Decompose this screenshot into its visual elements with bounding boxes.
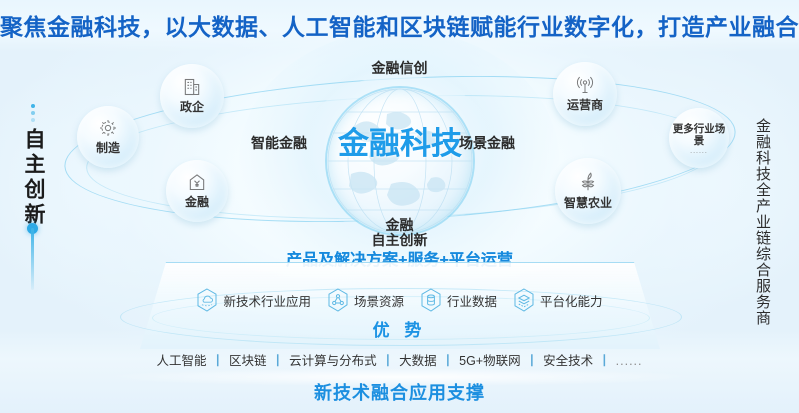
technology-item: 5G+物联网 (459, 354, 520, 368)
database-hex-icon (420, 288, 442, 312)
capability-label: 场景资源 (354, 291, 404, 310)
left-vertical-caption: 自主创新 (18, 128, 48, 228)
industry-bubble-label: 制造 (96, 139, 120, 156)
industry-bubble-label: 运营商 (567, 96, 603, 113)
building-icon (182, 77, 202, 97)
technology-ellipsis: ...... (616, 354, 643, 368)
technology-separator: 丨 (526, 354, 539, 368)
gear-icon (98, 118, 118, 138)
industry-bubble-telecom-operator[interactable]: 运营商 (553, 62, 617, 126)
layers-hex-icon (513, 288, 535, 312)
wheat-icon (577, 171, 599, 193)
technology-separator: 丨 (272, 354, 285, 368)
label-scenario-finance: 场景金融 (459, 133, 515, 153)
technology-support-title: 新技术融合应用支撑 (0, 379, 799, 405)
industry-bubble-more-scenarios[interactable]: 更多行业场景 ...... (669, 108, 729, 168)
bank-currency-icon (187, 172, 207, 192)
capability-item-scenario-resources[interactable]: 场景资源 (327, 288, 404, 312)
capability-item-platform-capability[interactable]: 平台化能力 (513, 288, 603, 312)
industry-bubble-ellipsis: ...... (690, 148, 708, 155)
technology-item: 云计算与分布式 (289, 354, 377, 368)
industry-bubble-label: 智慧农业 (564, 194, 612, 211)
industry-bubble-manufacturing[interactable]: 制造 (77, 106, 139, 168)
label-finance-line1: 金融 (386, 217, 414, 233)
technology-separator: 丨 (212, 354, 225, 368)
cloud-hex-icon (196, 288, 218, 312)
page-title: 聚焦金融科技，以大数据、人工智能和区块链赋能行业数字化，打造产业融合新生态 (0, 8, 799, 42)
globe-center-label: 金融科技 (327, 118, 473, 163)
technology-item: 大数据 (399, 354, 437, 368)
capability-label: 新技术行业应用 (223, 291, 311, 310)
label-finance-self-innovation: 金融 自主创新 (0, 218, 799, 248)
label-smart-finance: 智能金融 (251, 133, 307, 153)
capability-item-new-tech-application[interactable]: 新技术行业应用 (196, 288, 311, 312)
industry-bubble-government-enterprise[interactable]: 政企 (160, 64, 224, 128)
capability-row: 新技术行业应用 场景资源 行业数据 (0, 288, 799, 312)
industry-bubble-smart-agriculture[interactable]: 智慧农业 (555, 158, 621, 224)
capability-item-industry-data[interactable]: 行业数据 (420, 288, 497, 312)
advantage-title: 优 势 (0, 316, 799, 341)
industry-bubble-label: 政企 (180, 98, 204, 115)
technology-separator: 丨 (442, 354, 455, 368)
network-hex-icon (327, 288, 349, 312)
signal-tower-icon (575, 75, 595, 95)
technology-item: 人工智能 (157, 354, 207, 368)
technology-item: 区块链 (229, 354, 267, 368)
technology-separator: 丨 (598, 354, 611, 368)
left-decor-dots (30, 104, 36, 125)
technology-list: 人工智能丨区块链丨云计算与分布式丨大数据丨5G+物联网丨安全技术丨...... (0, 350, 799, 369)
industry-bubble-finance[interactable]: 金融 (166, 160, 228, 222)
capability-label: 行业数据 (447, 291, 497, 310)
technology-item: 安全技术 (543, 354, 593, 368)
label-financial-innovation: 金融信创 (0, 58, 799, 78)
industry-bubble-label: 金融 (185, 193, 209, 210)
capability-label: 平台化能力 (540, 291, 603, 310)
technology-separator: 丨 (382, 354, 395, 368)
industry-bubble-label: 更多行业场景 (669, 123, 729, 147)
